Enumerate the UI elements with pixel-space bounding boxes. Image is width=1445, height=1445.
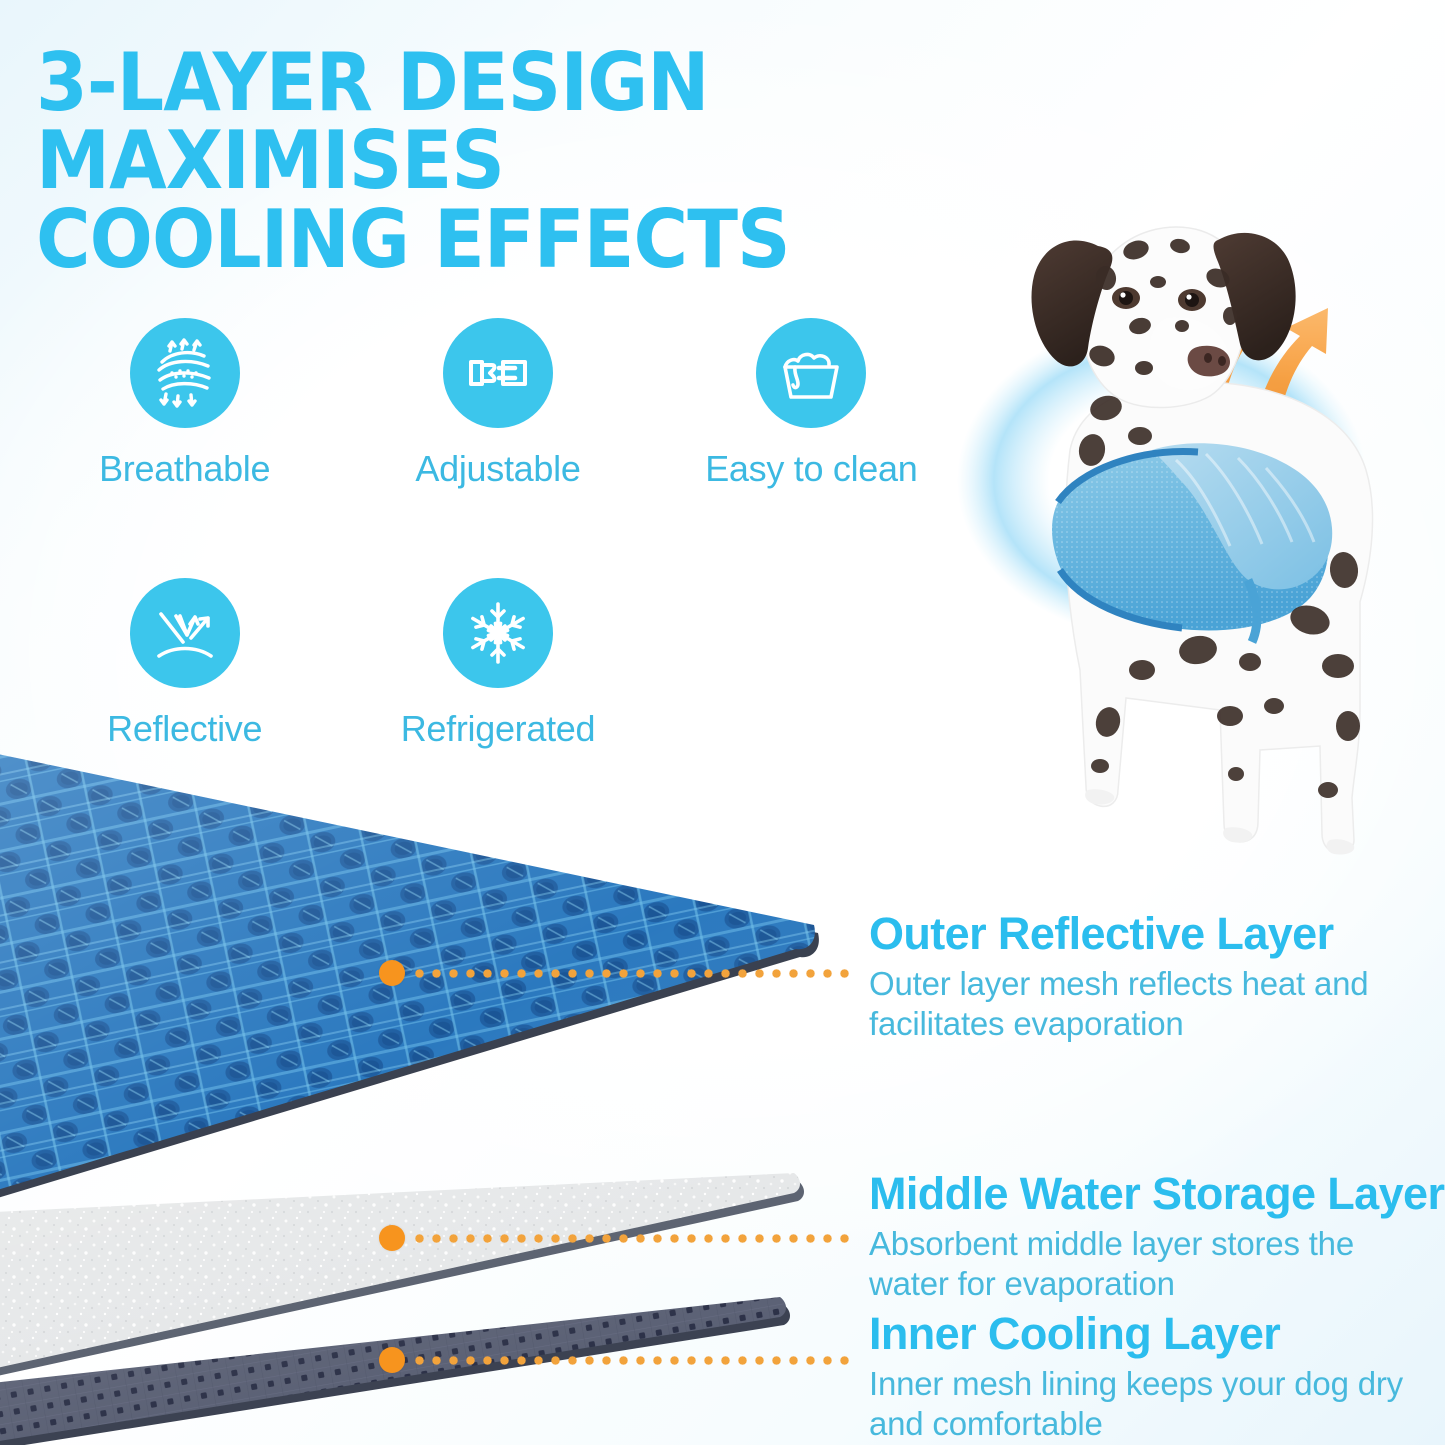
callout-body: Outer layer mesh reflects heat and facil… [869,964,1429,1045]
feature-label: Breathable [99,448,270,490]
infographic-canvas: 3-Layer Design Maximises Cooling Effects [0,0,1445,1445]
leader-line-outer [379,963,857,983]
product-photo-dog-in-cooling-vest [930,150,1445,880]
wash-basin-suds-icon [756,318,866,428]
callout-middle-layer: Middle Water Storage Layer Absorbent mid… [869,1168,1441,1305]
callout-inner-layer: Inner Cooling Layer Inner mesh lining ke… [869,1308,1441,1445]
feature-easy-to-clean: Easy to clean [655,318,968,490]
breathable-fabric-airflow-icon [130,318,240,428]
feature-row-1: Breathable Adjustable [28,318,968,490]
feature-adjustable: Adjustable [341,318,654,490]
callout-body: Absorbent middle layer stores the water … [869,1224,1441,1305]
leader-dot-icon [379,1225,405,1251]
callout-title: Inner Cooling Layer [869,1308,1441,1360]
leader-dash-line [411,969,857,978]
callout-title: Middle Water Storage Layer [869,1168,1441,1220]
callout-outer-layer: Outer Reflective Layer Outer layer mesh … [869,908,1429,1045]
feature-row-2: Reflective [28,578,968,750]
feature-list: Breathable Adjustable [28,318,968,750]
reflected-rays-surface-icon [130,578,240,688]
buckle-clip-icon [443,318,553,428]
feature-breathable: Breathable [28,318,341,490]
feature-reflective: Reflective [28,578,341,750]
feature-spacer [655,578,968,750]
feature-refrigerated: Refrigerated [341,578,654,750]
leader-dot-icon [379,960,405,986]
feature-label: Adjustable [415,448,580,490]
callout-title: Outer Reflective Layer [869,908,1429,960]
leader-dash-line [411,1234,857,1243]
leader-line-inner [379,1350,857,1370]
leader-dash-line [411,1356,857,1365]
feature-label: Easy to clean [705,448,917,490]
leader-line-middle [379,1228,857,1248]
snowflake-icon [443,578,553,688]
leader-dot-icon [379,1347,405,1373]
three-layer-fabric-diagram [0,735,874,1445]
callout-body: Inner mesh lining keeps your dog dry and… [869,1364,1441,1445]
page-title: 3-Layer Design Maximises Cooling Effects [36,44,1078,279]
